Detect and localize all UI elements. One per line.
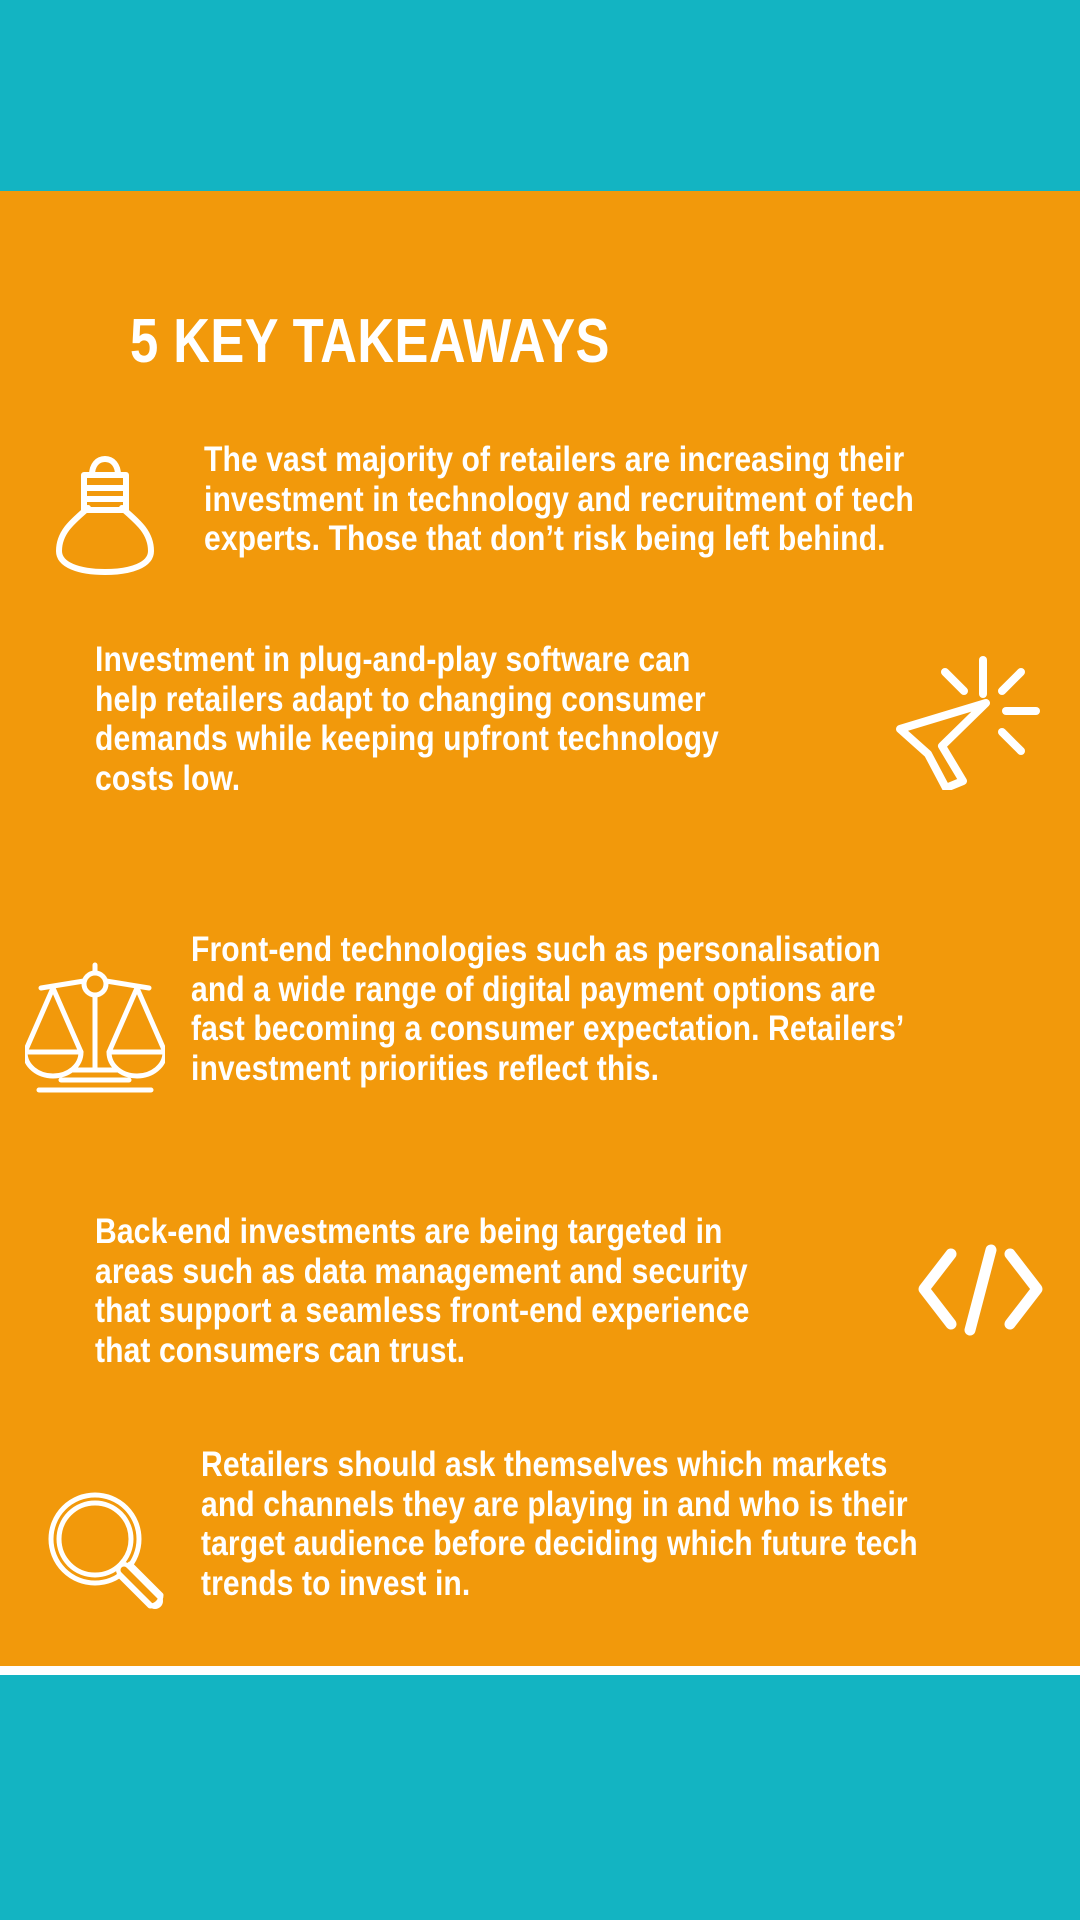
takeaway-item-4: Back-end investments are being targeted …	[95, 1212, 1055, 1370]
code-brackets-icon	[905, 1212, 1055, 1337]
takeaway-item-1: The vast majority of retailers are incre…	[40, 440, 1040, 576]
lightbulb-icon	[40, 440, 170, 576]
page-title: 5 KEY TAKEAWAYS	[130, 311, 610, 373]
takeaway-item-3: Front-end technologies such as personali…	[22, 930, 1042, 1096]
top-color-band	[0, 0, 1080, 191]
magnifying-glass-icon	[38, 1445, 173, 1615]
takeaway-item-2: Investment in plug-and-play software can…	[95, 640, 1055, 798]
balance-scale-icon	[22, 930, 167, 1096]
takeaway-item-5: Retailers should ask themselves which ma…	[38, 1445, 1048, 1615]
takeaway-text-1: The vast majority of retailers are incre…	[204, 440, 918, 559]
infographic-card: 5 KEY TAKEAWAYS The vast majority of ret…	[0, 0, 1080, 1920]
bottom-color-band	[0, 1675, 1080, 1920]
click-cursor-icon	[880, 640, 1055, 790]
panel-separator-line	[0, 1666, 1080, 1675]
takeaway-text-5: Retailers should ask themselves which ma…	[201, 1445, 923, 1603]
takeaway-text-4: Back-end investments are being targeted …	[95, 1212, 781, 1370]
takeaway-text-2: Investment in plug-and-play software can…	[95, 640, 753, 798]
takeaway-text-3: Front-end technologies such as personali…	[191, 930, 923, 1088]
